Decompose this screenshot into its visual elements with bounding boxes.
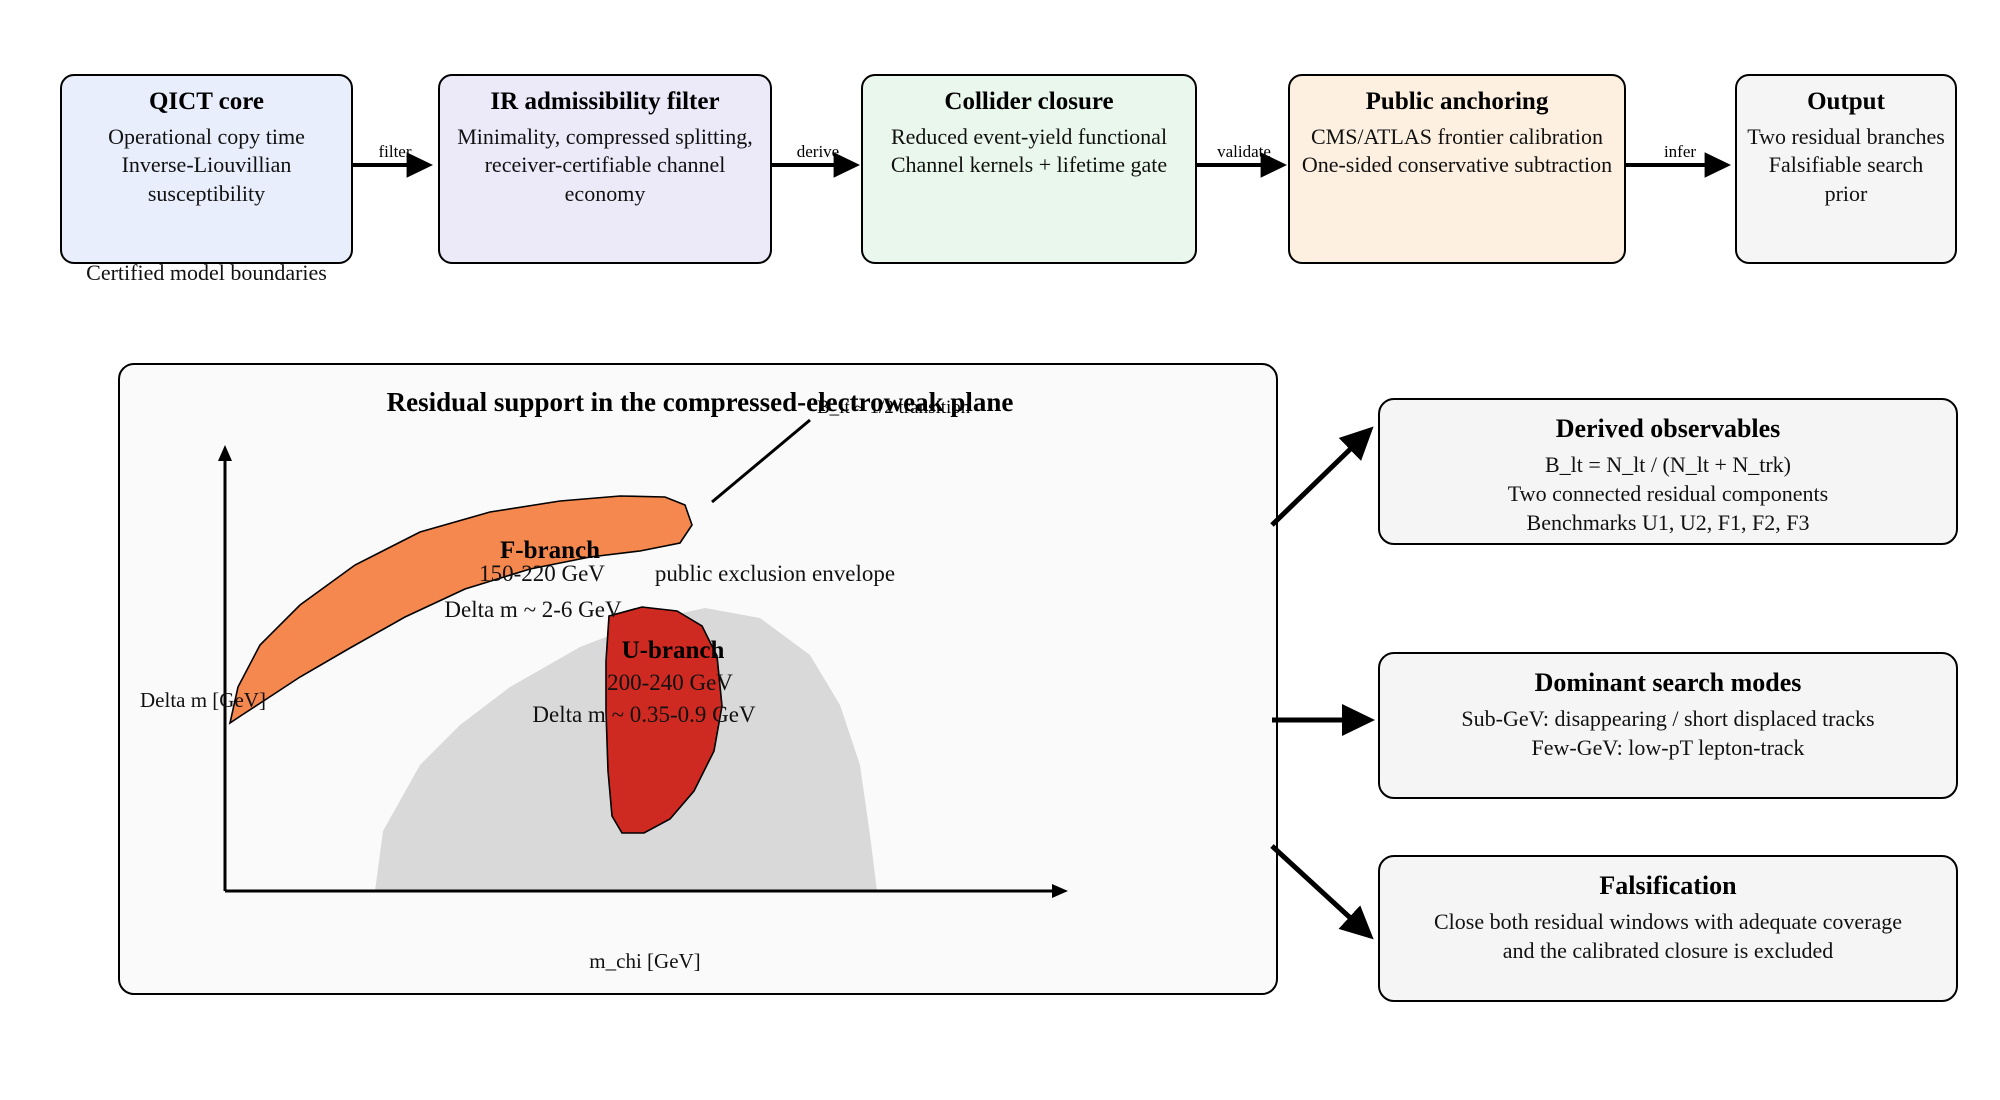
callout-title: Falsification	[1394, 869, 1942, 903]
callout-arrow-dominant-search-modes	[1270, 700, 1390, 740]
pipeline-box-body: Minimality, compressed splitting,receive…	[448, 123, 762, 209]
plot-panel: Residual support in the compressed-elect…	[118, 363, 1278, 995]
pipeline-box-collider-closure[interactable]: Collider closure Reduced event-yield fun…	[861, 74, 1197, 264]
callout-arrow-falsification	[1270, 840, 1390, 950]
callout-title: Derived observables	[1394, 412, 1942, 446]
callout-derived-observables[interactable]: Derived observables B_lt = N_lt / (N_lt …	[1378, 398, 1958, 545]
pipeline-arrow-label-filter: filter	[353, 142, 437, 162]
callout-body: Close both residual windows with adequat…	[1394, 907, 1942, 965]
pipeline-box-overflow-text: Certified model boundaries	[60, 259, 353, 288]
transition-leader-line	[712, 420, 810, 502]
pipeline-box-title: QICT core	[70, 86, 343, 119]
y-axis-label: Delta m [GeV]	[140, 688, 266, 712]
pipeline-box-title: Output	[1745, 86, 1947, 119]
pipeline-box-body: Operational copy timeInverse-Liouvillian…	[70, 123, 343, 209]
f-branch-line1: 150-220 GeV	[479, 561, 605, 586]
callout-arrow-derived-observables	[1270, 420, 1390, 530]
pipeline-arrow-label-validate: validate	[1197, 142, 1291, 162]
public-exclusion-envelope-label: public exclusion envelope	[655, 561, 895, 586]
pipeline-box-qict-core[interactable]: QICT core Operational copy timeInverse-L…	[60, 74, 353, 264]
callout-body: Sub-GeV: disappearing / short displaced …	[1394, 704, 1942, 762]
pipeline-box-body: Two residual branchesFalsifiable search …	[1745, 123, 1947, 209]
pipeline-box-title: IR admissibility filter	[448, 86, 762, 119]
callout-body: B_lt = N_lt / (N_lt + N_trk)Two connecte…	[1394, 450, 1942, 537]
u-branch-title: U-branch	[622, 637, 725, 664]
callout-title: Dominant search modes	[1394, 666, 1942, 700]
pipeline-box-body: CMS/ATLAS frontier calibrationOne-sided …	[1298, 123, 1616, 180]
pipeline-box-title: Collider closure	[871, 86, 1187, 119]
pipeline-arrow-label-infer: infer	[1626, 142, 1734, 162]
x-axis-label: m_chi [GeV]	[589, 949, 700, 973]
u-branch-line2: Delta m ~ 0.35-0.9 GeV	[532, 702, 756, 727]
pipeline-box-output[interactable]: Output Two residual branchesFalsifiable …	[1735, 74, 1957, 264]
pipeline-box-ir-admissibility-filter[interactable]: IR admissibility filter Minimality, comp…	[438, 74, 772, 264]
pipeline-box-public-anchoring[interactable]: Public anchoring CMS/ATLAS frontier cali…	[1288, 74, 1626, 264]
pipeline-arrow-label-derive: derive	[772, 142, 864, 162]
residual-support-plot: B_lt ~ 1/2 transition public exclusion e…	[120, 365, 1280, 997]
diagram-canvas: QICT core Operational copy timeInverse-L…	[0, 0, 2000, 1100]
transition-annotation: B_lt ~ 1/2 transition	[817, 397, 971, 418]
pipeline-box-title: Public anchoring	[1298, 86, 1616, 119]
u-branch-line1: 200-240 GeV	[607, 670, 733, 695]
pipeline-box-body: Reduced event-yield functionalChannel ke…	[871, 123, 1187, 180]
f-branch-line2: Delta m ~ 2-6 GeV	[444, 597, 622, 622]
f-branch-title: F-branch	[500, 537, 600, 564]
callout-dominant-search-modes[interactable]: Dominant search modes Sub-GeV: disappear…	[1378, 652, 1958, 799]
callout-falsification[interactable]: Falsification Close both residual window…	[1378, 855, 1958, 1002]
